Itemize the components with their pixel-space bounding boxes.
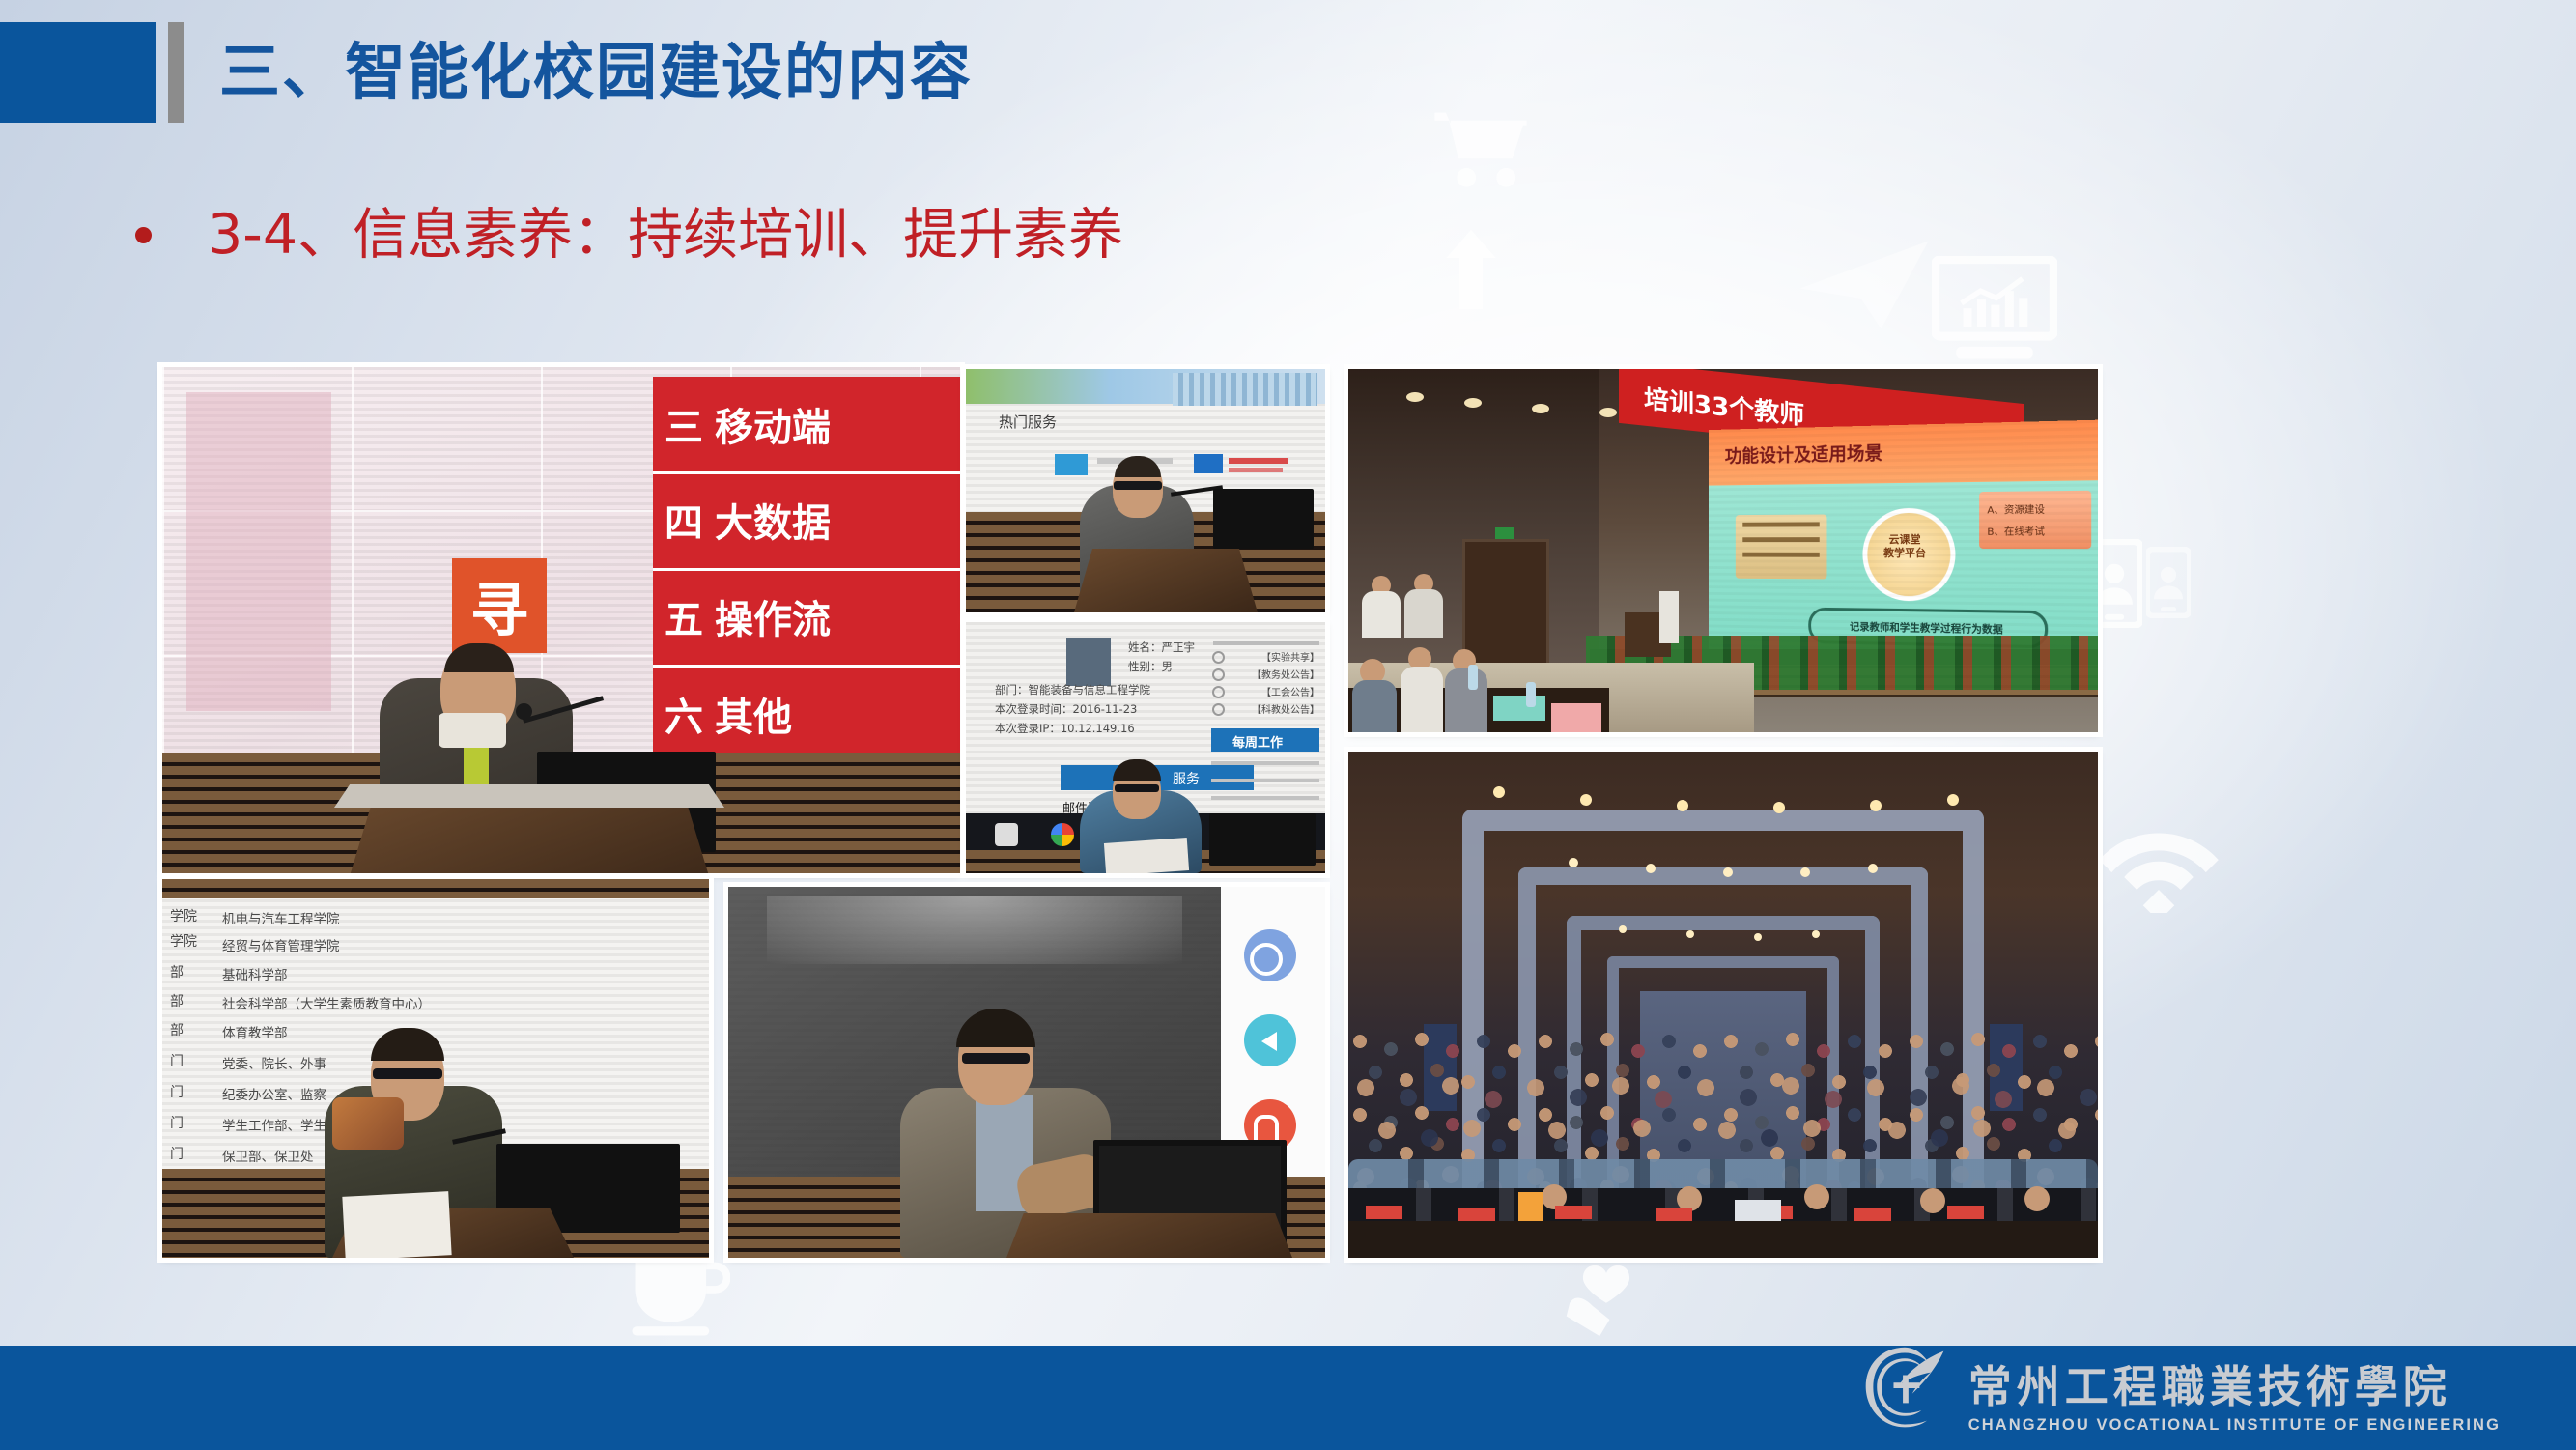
up-arrow-icon [1444,230,1498,309]
institution-logo: 常州工程職業技術學院 CHANGZHOU VOCATIONAL INSTITUT… [1858,1342,2501,1435]
photo-lecture-red-list: 寻 三移动端 四大数据 五操作流 六其他 [162,367,960,873]
auditorium-banner-text: 培训33个教师 [1644,380,1804,432]
title-accent-block [0,22,156,123]
dept-item-1: 经贸与体育管理学院 [222,935,340,954]
paper-plane-icon [1797,232,1932,338]
bullet-text: 3-4、信息素养：持续培训、提升素养 [208,208,1123,263]
dept-item-2: 基础科学部 [222,964,288,983]
photo-auditorium-training: 培训33个教师 功能设计及适用场景 云课堂 教学平台 A、资源建设 B、在线考试… [1348,369,2098,732]
profile-right-title: 每周工作 [1232,732,1283,751]
slide-canvas: 三、智能化校园建设的内容 3-4、信息素养：持续培训、提升素养 寻 三移动端 四… [0,0,2576,1450]
profile-field-gender: 性别：男 [1128,659,1173,674]
profile-right-item-2: 【工会公告】 [1261,684,1319,698]
photo-speaker-hot-service: 热门服务 常州工程学院智能… [966,369,1325,612]
dept-item-0: 机电与汽车工程学院 [222,908,340,927]
dept-item-3: 社会科学部（大学生素质教育中心） [222,993,431,1012]
profile-right-item-1: 【教务处公告】 [1252,667,1319,681]
photo-audience-hall [1348,752,2098,1258]
shopping-cart-icon [1428,106,1534,208]
dept-left-8: 门 [170,1144,184,1163]
coffee-cup-icon [626,1248,730,1337]
monitor-chart-icon [1932,256,2057,364]
footer-bar: 常州工程職業技術學院 CHANGZHOU VOCATIONAL INSTITUT… [0,1346,2576,1450]
dept-left-4: 部 [170,1020,184,1039]
dept-left-2: 部 [170,962,184,981]
dept-left-7: 门 [170,1113,184,1132]
photo-speaker-portal-profile: 姓名：严正宇 性别：男 部门：智能装备与信息工程学院 本次登录时间：2016-1… [966,622,1325,873]
video-call-phone-small-icon [2146,547,2191,618]
profile-field-dept: 部门：智能装备与信息工程学院 [995,682,1150,697]
dept-left-6: 门 [170,1082,184,1101]
profile-field-loginip: 本次登录IP：10.12.149.16 [995,721,1135,736]
screen-logo-glyph: 寻 [452,558,547,653]
dept-left-5: 门 [170,1051,184,1070]
bullet-row: 3-4、信息素养：持续培训、提升素养 [135,208,1123,263]
bullet-dot-icon [135,227,152,243]
profile-field-name: 姓名：严正宇 [1128,640,1195,655]
dept-left-1: 学院 [170,931,197,951]
photo-speaker-laptop-icons [728,887,1325,1258]
institution-name-cn: 常州工程職業技術學院 [1968,1364,2451,1409]
photo-speaker-department-list: 学院 学院 部 部 部 门 门 门 门 门 门 机电与汽车工程学院 经贸与体育管… [162,879,709,1258]
dept-left-3: 部 [170,991,184,1010]
cvie-emblem-icon [1858,1342,1951,1435]
dept-item-4: 体育教学部 [222,1022,288,1041]
dept-item-8: 保卫部、保卫处 [222,1146,314,1165]
profile-right-item-0: 【实验共享】 [1261,649,1319,664]
slide-title-row: 三、智能化校园建设的内容 [0,21,973,123]
profile-field-logintime: 本次登录时间：2016-11-23 [995,701,1137,717]
page-title: 三、智能化校园建设的内容 [219,42,973,102]
screen-title-hot-service: 热门服务 [999,412,1057,432]
institution-name-en: CHANGZHOU VOCATIONAL INSTITUTE OF ENGINE… [1968,1416,2501,1435]
dept-item-6: 纪委办公室、监察 [222,1084,326,1103]
dept-item-5: 党委、院长、外事 [222,1053,326,1072]
title-divider-rule [168,22,184,123]
profile-section-title: 服务 [1173,769,1200,788]
profile-right-item-3: 【科教处公告】 [1252,701,1319,716]
wifi-icon [2096,816,2222,913]
dept-left-0: 学院 [170,906,197,925]
